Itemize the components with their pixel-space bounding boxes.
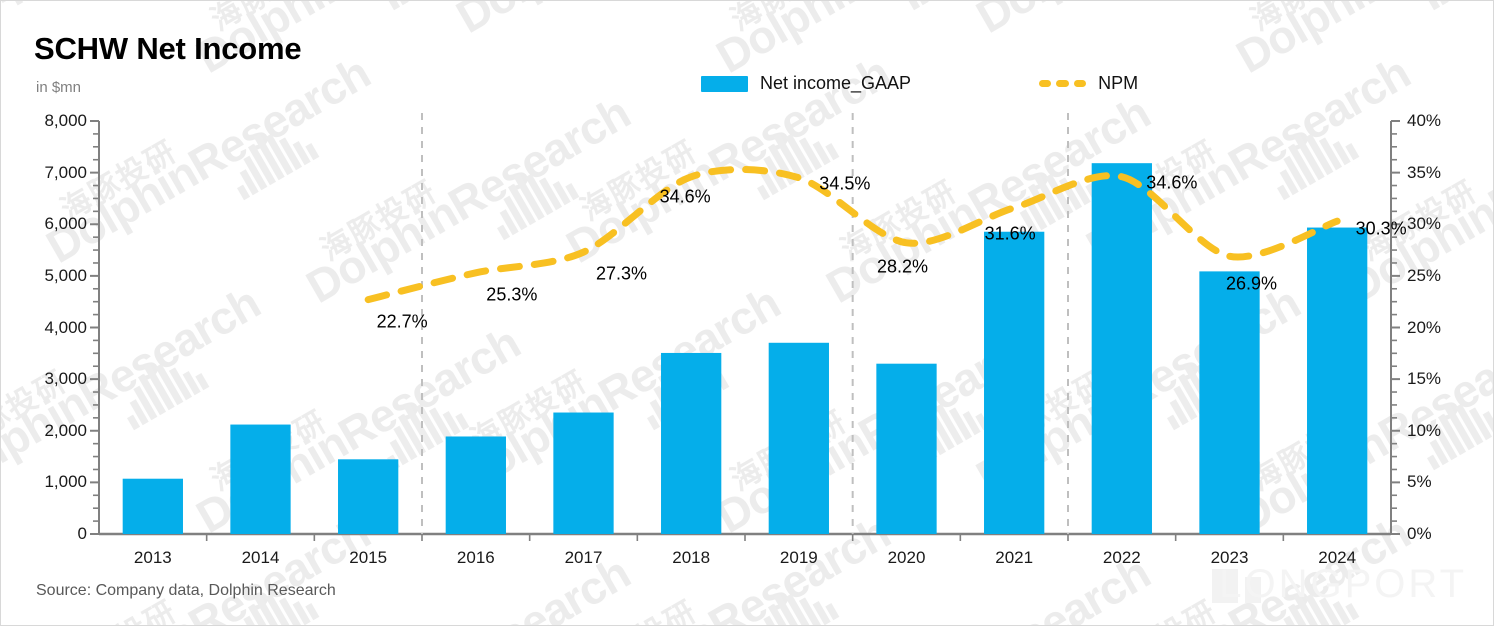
y-left-tick-label: 4,000 xyxy=(9,318,87,338)
watermark-text-cn: 海豚投研 xyxy=(571,587,704,625)
npm-data-label: 34.5% xyxy=(819,173,870,194)
y-right-tick-label: 0% xyxy=(1407,524,1432,544)
watermark-text-en: DolphinResearch xyxy=(707,1,1049,84)
y-left-tick-label: 6,000 xyxy=(9,214,87,234)
y-right-tick-label: 35% xyxy=(1407,163,1441,183)
bar-2023 xyxy=(1199,271,1259,534)
legend-label-net-income: Net income_GAAP xyxy=(760,73,911,94)
legend-swatch-dashed-line-icon xyxy=(1039,80,1086,87)
y-left-tick-label: 0 xyxy=(9,524,87,544)
bar-2020 xyxy=(876,364,936,534)
y-right-tick-label: 20% xyxy=(1407,318,1441,338)
x-tick-label-2016: 2016 xyxy=(457,548,495,568)
y-left-tick-label: 2,000 xyxy=(9,421,87,441)
watermark-bars-icon xyxy=(999,614,1099,626)
x-tick-label-2014: 2014 xyxy=(242,548,280,568)
watermark-text-cn: 海豚投研 xyxy=(1091,587,1224,625)
y-left-tick-label: 8,000 xyxy=(9,111,87,131)
npm-data-label: 22.7% xyxy=(377,311,428,332)
bar-2022 xyxy=(1092,163,1152,534)
y-left-tick-label: 7,000 xyxy=(9,163,87,183)
legend-item-npm[interactable]: NPM xyxy=(1039,73,1138,94)
longport-watermark: LONGPORT xyxy=(1219,562,1467,607)
bar-2016 xyxy=(446,436,506,534)
watermark-bars-icon xyxy=(369,1,469,10)
watermark-text-en: DolphinResearch xyxy=(1487,275,1493,503)
legend-item-net-income[interactable]: Net income_GAAP xyxy=(701,73,911,94)
y-left-tick-label: 5,000 xyxy=(9,266,87,286)
x-tick-label-2020: 2020 xyxy=(888,548,926,568)
x-tick-label-2017: 2017 xyxy=(565,548,603,568)
watermark-text-en: DolphinResearch xyxy=(967,1,1309,44)
x-tick-label-2021: 2021 xyxy=(995,548,1033,568)
y-left-tick-label: 1,000 xyxy=(9,472,87,492)
chart-page: 海豚投研DolphinResearch海豚投研DolphinResearch海豚… xyxy=(0,0,1494,626)
legend-swatch-bar-icon xyxy=(701,76,748,92)
watermark-bars-icon xyxy=(1409,1,1493,10)
npm-data-label: 34.6% xyxy=(660,186,711,207)
watermark-text-en: DolphinResearch xyxy=(1227,1,1493,84)
watermark-bars-icon xyxy=(889,1,989,10)
x-tick-label-2022: 2022 xyxy=(1103,548,1141,568)
bar-2017 xyxy=(553,413,613,534)
x-tick-label-2024: 2024 xyxy=(1318,548,1356,568)
watermark-bars-icon xyxy=(739,574,839,626)
legend-label-npm: NPM xyxy=(1098,73,1138,94)
bar-2014 xyxy=(230,425,290,534)
x-tick-label-2013: 2013 xyxy=(134,548,172,568)
bar-2024 xyxy=(1307,228,1367,534)
npm-data-label: 31.6% xyxy=(985,223,1036,244)
x-tick-label-2018: 2018 xyxy=(672,548,710,568)
y-right-tick-label: 10% xyxy=(1407,421,1441,441)
page-title: SCHW Net Income xyxy=(34,31,301,67)
watermark-bars-icon xyxy=(479,614,579,626)
x-tick-label-2015: 2015 xyxy=(349,548,387,568)
x-tick-label-2023: 2023 xyxy=(1211,548,1249,568)
chart-subtitle: in $mn xyxy=(36,79,81,96)
bar-2018 xyxy=(661,353,721,534)
y-right-tick-label: 30% xyxy=(1407,214,1441,234)
plot-area: 01,0002,0003,0004,0005,0006,0007,0008,00… xyxy=(99,121,1391,534)
source-note: Source: Company data, Dolphin Research xyxy=(36,582,336,600)
npm-data-label: 28.2% xyxy=(877,256,928,277)
watermark-text-en: DolphinResearch xyxy=(1487,1,1493,44)
bar-2019 xyxy=(769,343,829,534)
y-right-tick-label: 15% xyxy=(1407,369,1441,389)
x-tick-label-2019: 2019 xyxy=(780,548,818,568)
bar-2013 xyxy=(123,479,183,534)
y-right-tick-label: 25% xyxy=(1407,266,1441,286)
npm-data-label: 27.3% xyxy=(596,264,647,285)
bar-2021 xyxy=(984,232,1044,534)
npm-data-label: 26.9% xyxy=(1226,274,1277,295)
watermark-text-cn: 海豚投研 xyxy=(1241,1,1374,39)
watermark-text-en: DolphinResearch xyxy=(447,1,789,44)
y-left-tick-label: 3,000 xyxy=(9,369,87,389)
npm-data-label: 34.6% xyxy=(1146,172,1197,193)
bar-2015 xyxy=(338,459,398,534)
chart-legend: Net income_GAAP NPM xyxy=(701,73,1138,94)
npm-data-label: 30.3% xyxy=(1356,219,1407,240)
watermark-text-cn: 海豚投研 xyxy=(721,1,854,39)
npm-data-label: 25.3% xyxy=(486,284,537,305)
y-right-tick-label: 5% xyxy=(1407,472,1432,492)
y-right-tick-label: 40% xyxy=(1407,111,1441,131)
